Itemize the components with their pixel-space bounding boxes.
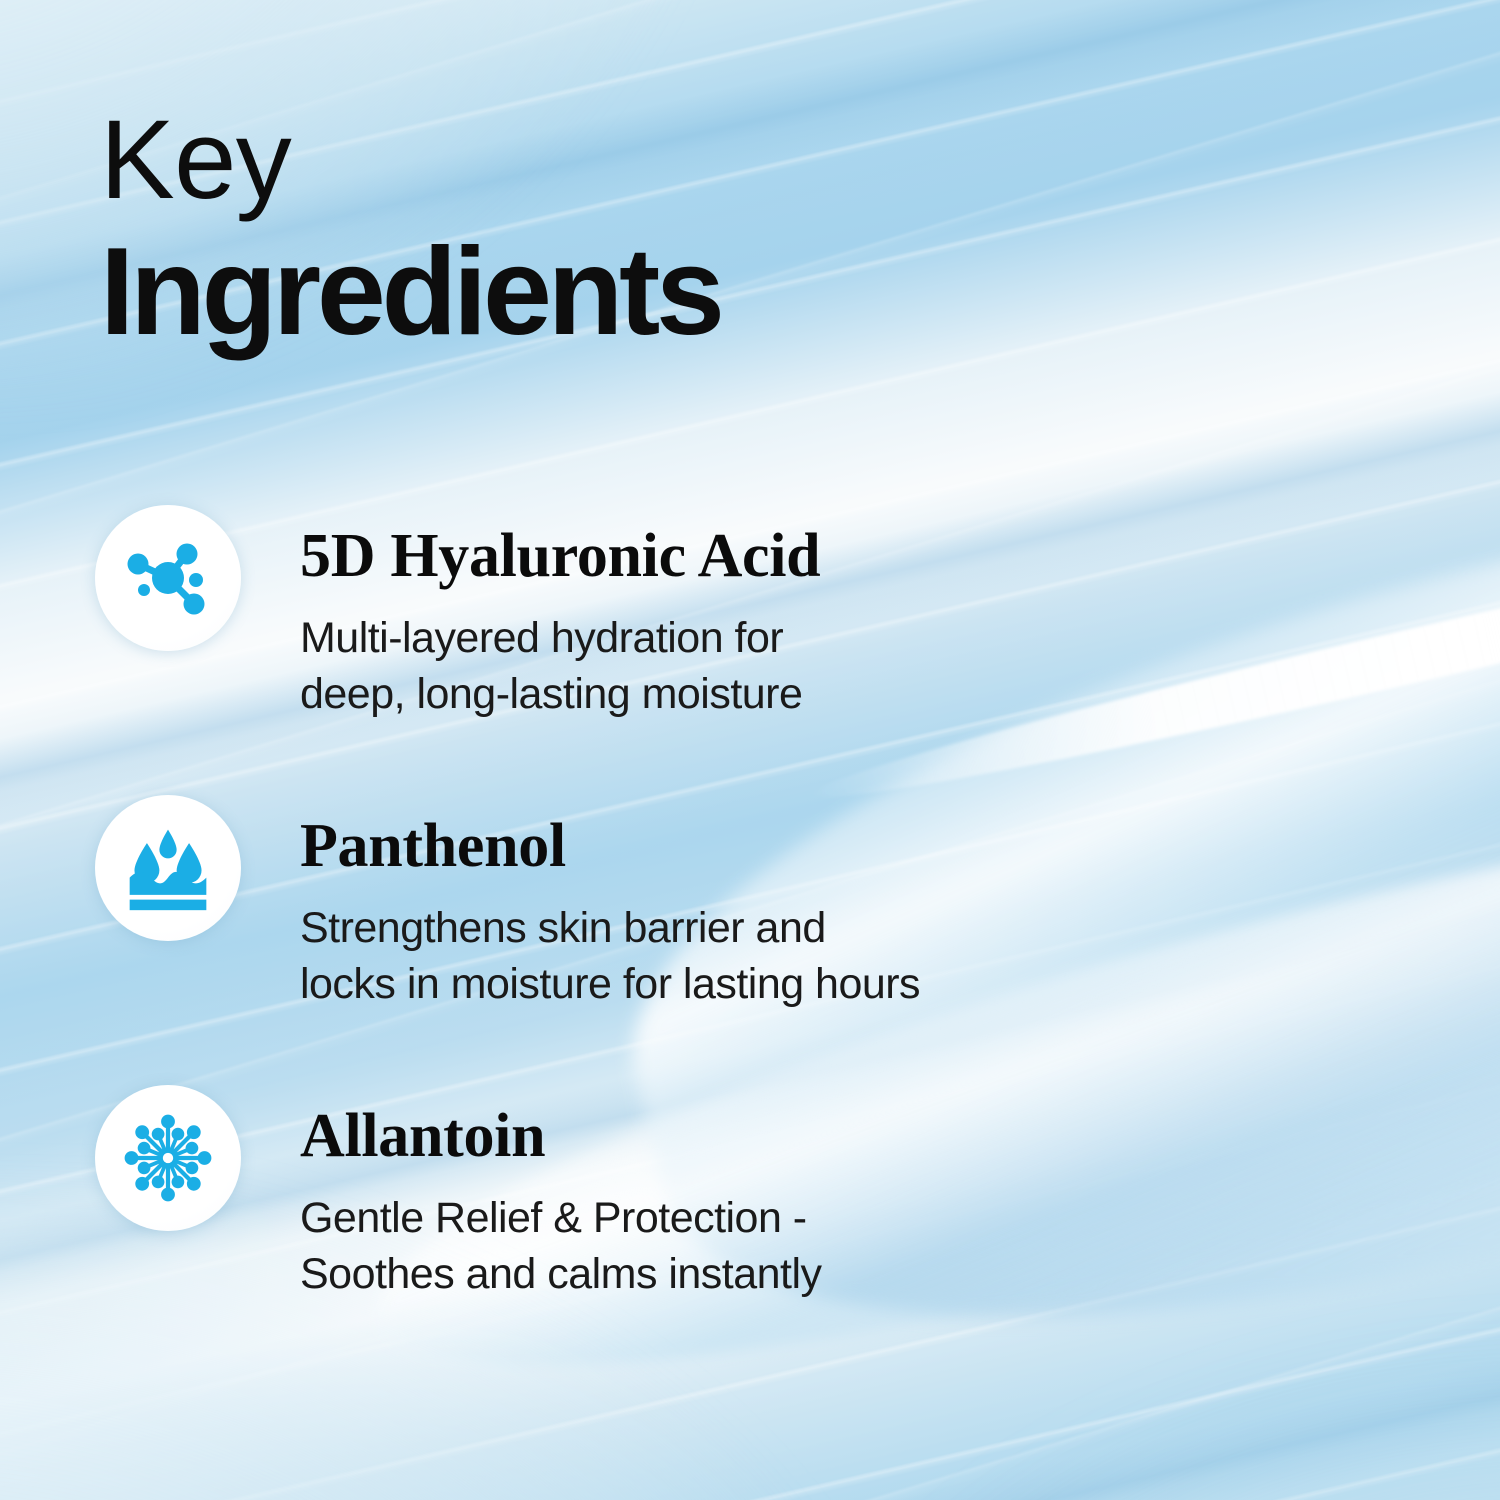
page-title-line-1: Key xyxy=(100,104,721,216)
ingredient-item-panthenol: Panthenol Strengthens skin barrier and l… xyxy=(95,795,1295,1085)
ingredient-item-hyaluronic-acid: 5D Hyaluronic Acid Multi-layered hydrati… xyxy=(95,505,1295,795)
ingredient-description: Gentle Relief & Protection - Soothes and… xyxy=(300,1191,1290,1303)
molecule-icon xyxy=(120,530,216,626)
ingredient-text-block: Allantoin Gentle Relief & Protection - S… xyxy=(300,1105,1290,1303)
page-title: Key Ingredients xyxy=(100,104,721,354)
ingredient-icon-badge xyxy=(95,795,241,941)
ingredient-item-allantoin: Allantoin Gentle Relief & Protection - S… xyxy=(95,1085,1295,1375)
ingredient-icon-badge xyxy=(95,1085,241,1231)
ingredient-description-line-1: Strengthens skin barrier and xyxy=(300,901,1290,957)
ingredient-description: Multi-layered hydration for deep, long-l… xyxy=(300,611,1290,723)
ingredient-icon-badge xyxy=(95,505,241,651)
ingredient-description-line-2: locks in moisture for lasting hours xyxy=(300,957,1290,1013)
ingredient-title: Panthenol xyxy=(300,815,1290,877)
ingredient-description-line-1: Gentle Relief & Protection - xyxy=(300,1191,1290,1247)
ingredient-list: 5D Hyaluronic Acid Multi-layered hydrati… xyxy=(95,505,1295,1375)
page-title-line-2: Ingredients xyxy=(100,230,721,354)
ingredient-title: 5D Hyaluronic Acid xyxy=(300,525,1290,587)
ingredient-description-line-2: deep, long-lasting moisture xyxy=(300,667,1290,723)
key-ingredients-infographic: Key Ingredients xyxy=(0,0,1500,1500)
content-area: Key Ingredients xyxy=(0,0,1500,1500)
ingredient-description-line-1: Multi-layered hydration for xyxy=(300,611,1290,667)
ingredient-description-line-2: Soothes and calms instantly xyxy=(300,1247,1290,1303)
ingredient-text-block: 5D Hyaluronic Acid Multi-layered hydrati… xyxy=(300,525,1290,723)
ingredient-title: Allantoin xyxy=(300,1105,1290,1167)
ingredient-text-block: Panthenol Strengthens skin barrier and l… xyxy=(300,815,1290,1013)
water-droplets-barrier-icon xyxy=(122,822,214,914)
radial-burst-icon xyxy=(120,1110,216,1206)
ingredient-description: Strengthens skin barrier and locks in mo… xyxy=(300,901,1290,1013)
